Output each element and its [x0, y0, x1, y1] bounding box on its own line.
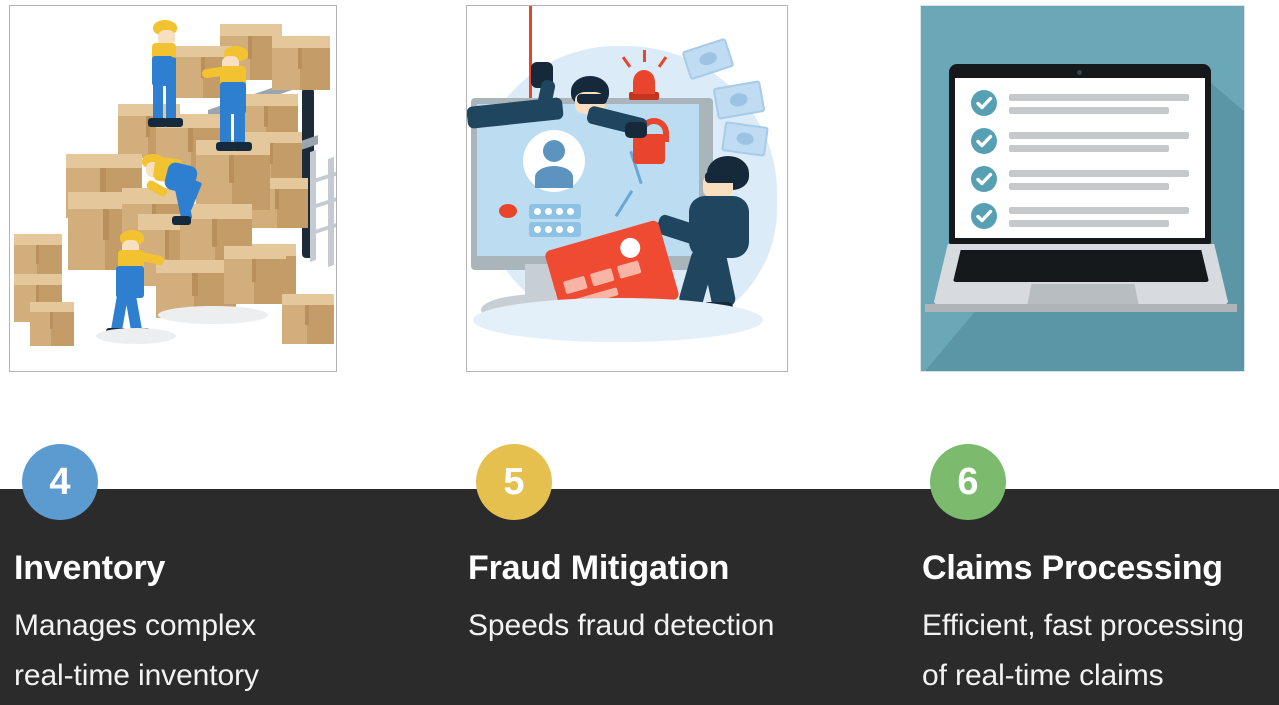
password-field-icon [529, 204, 581, 219]
check-circle-icon [971, 203, 997, 229]
step-badge-6: 6 [930, 444, 1006, 520]
laptop-keyboard [953, 250, 1209, 282]
feature-description: Manages complex real-time inventory [14, 601, 454, 701]
virus-bug-icon [499, 204, 517, 218]
feature-title: Inventory [14, 551, 454, 587]
box-icon [30, 302, 74, 346]
box-icon [282, 294, 334, 344]
step-number: 5 [503, 463, 524, 501]
step-number: 4 [49, 463, 70, 501]
feature-column-inventory: Inventory Manages complex real-time inve… [14, 551, 454, 701]
feature-description: Speeds fraud detection [468, 601, 908, 651]
laptop-checklist-illustration [921, 6, 1244, 371]
check-circle-icon [971, 128, 997, 154]
laptop-trackpad [1027, 284, 1139, 306]
feature-description: Efficient, fast processing of real-time … [922, 601, 1279, 701]
step-badge-5: 5 [476, 444, 552, 520]
slide-canvas: 4 5 6 Inventory Manages complex real-tim… [0, 0, 1279, 705]
banknote-icon [713, 80, 766, 120]
banknote-icon [681, 38, 734, 81]
feature-column-claims: Claims Processing Efficient, fast proces… [922, 551, 1279, 701]
step-badge-4: 4 [22, 444, 98, 520]
box-icon [224, 246, 286, 304]
step-number: 6 [957, 463, 978, 501]
banknote-icon [721, 121, 769, 157]
user-avatar-icon [523, 130, 585, 192]
feature-title: Fraud Mitigation [468, 551, 908, 587]
feature-title: Claims Processing [922, 551, 1279, 587]
password-field-icon [529, 222, 581, 237]
check-circle-icon [971, 166, 997, 192]
box-icon [272, 36, 330, 90]
feature-column-fraud: Fraud Mitigation Speeds fraud detection [468, 551, 908, 651]
image-card-claims [920, 5, 1245, 372]
image-card-inventory [9, 5, 337, 372]
warehouse-workers-stacking-boxes-illustration [10, 6, 336, 371]
webcam-icon [1077, 70, 1082, 75]
check-circle-icon [971, 90, 997, 116]
online-fraud-hackers-illustration [467, 6, 787, 371]
laptop-screen [955, 78, 1205, 238]
image-card-fraud [466, 5, 788, 372]
